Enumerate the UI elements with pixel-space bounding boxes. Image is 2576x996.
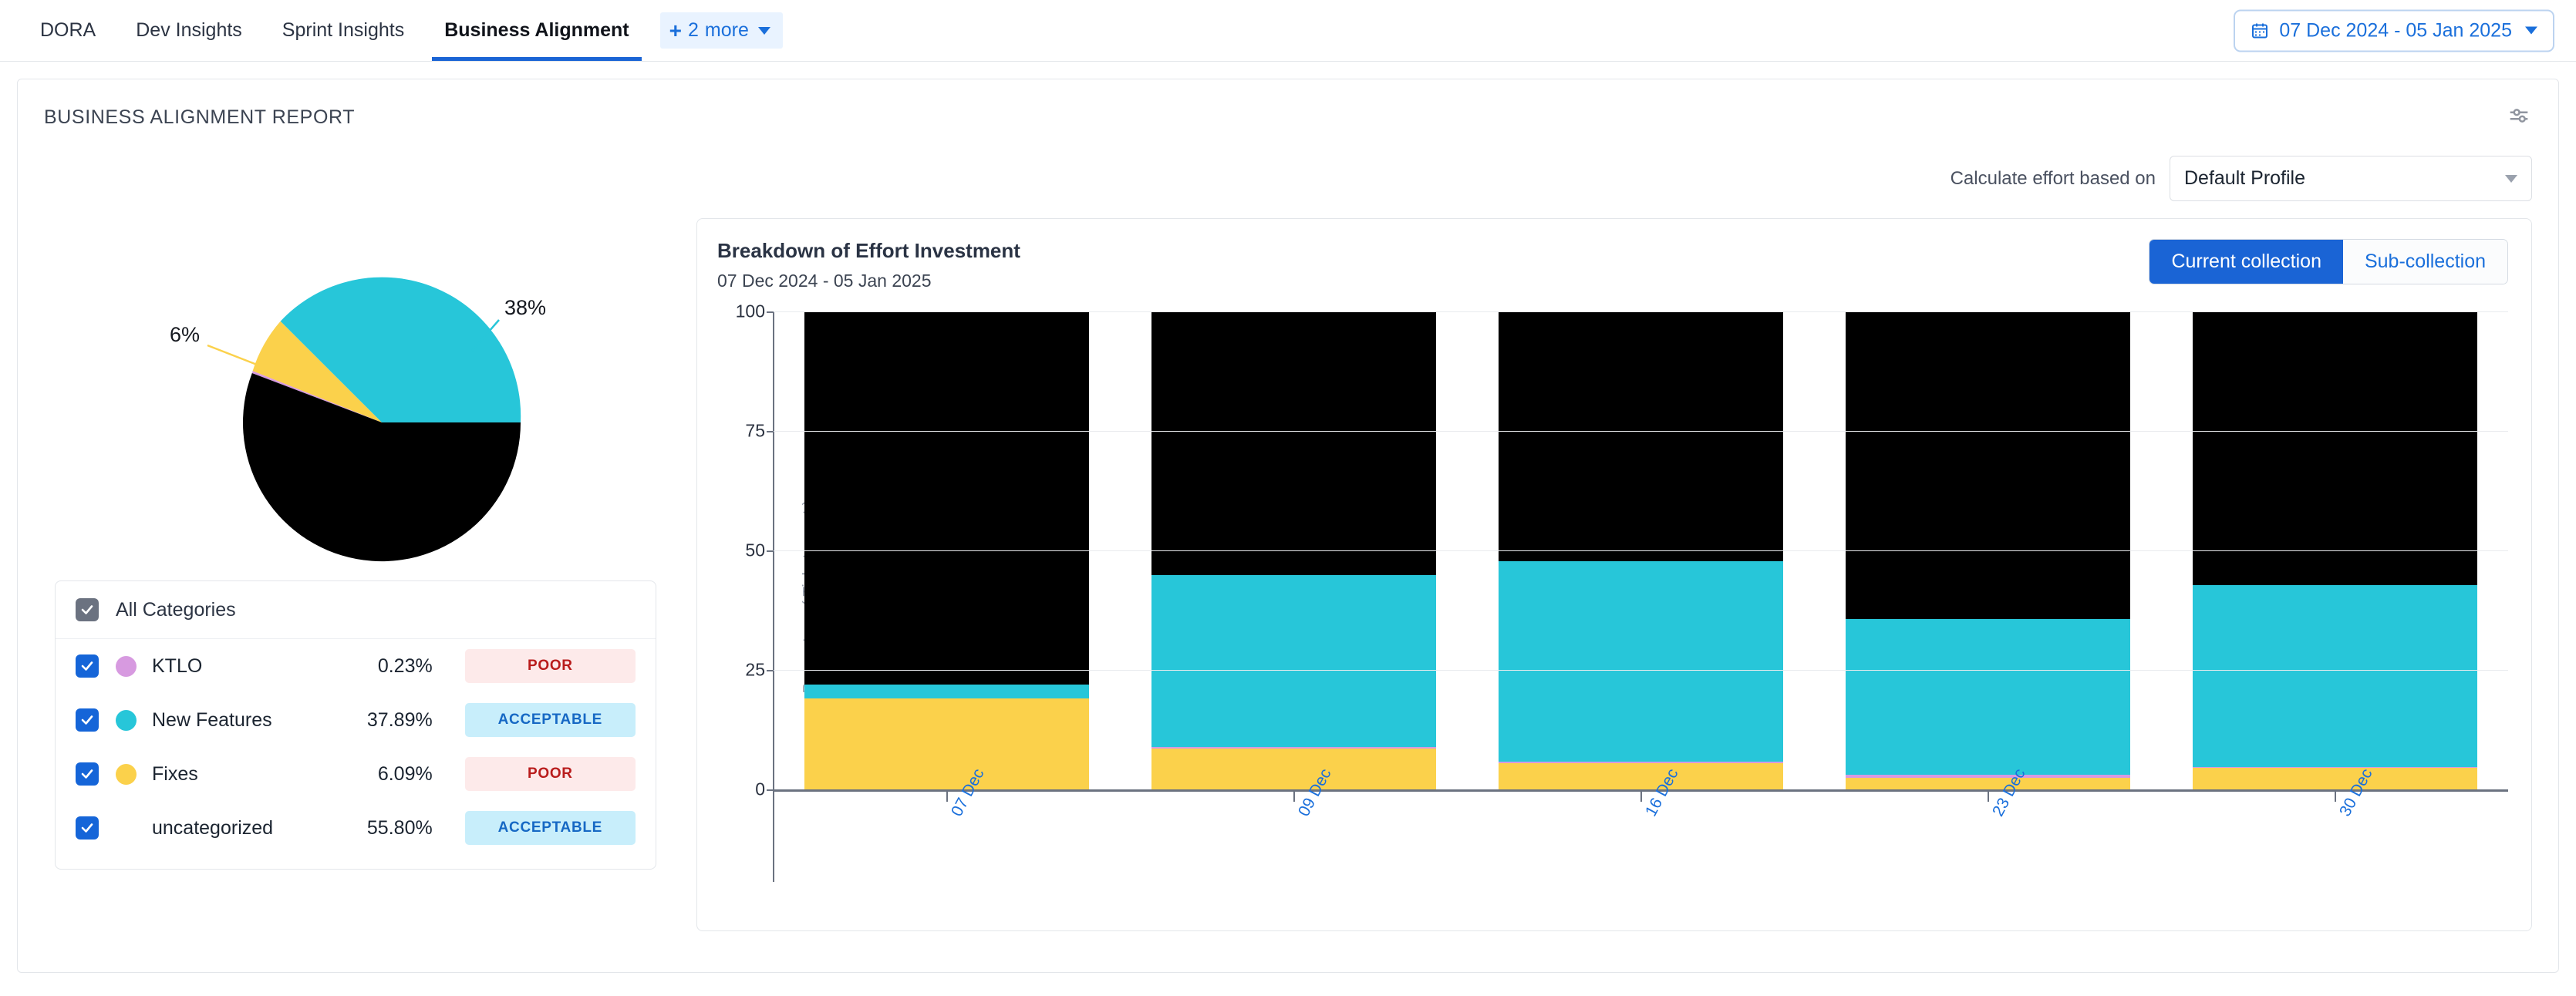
chart-title: Breakdown of Effort Investment: [717, 239, 1020, 263]
y-axis-tick-label: 75: [719, 421, 773, 442]
y-axis-tick-label: 0: [719, 779, 773, 800]
toggle-sub-collection[interactable]: Sub-collection: [2343, 240, 2507, 284]
pie-label-uncategorized: 56%: [305, 580, 346, 580]
list-item[interactable]: New Features 37.89% ACCEPTABLE: [56, 693, 656, 747]
status-badge: ACCEPTABLE: [465, 703, 636, 737]
date-range-text: 07 Dec 2024 - 05 Jan 2025: [2279, 19, 2512, 42]
bar-segment-new-features[interactable]: [1499, 561, 1783, 762]
chart-subtitle: 07 Dec 2024 - 05 Jan 2025: [717, 271, 1020, 291]
list-item[interactable]: KTLO 0.23% POOR: [56, 639, 656, 693]
effort-profile-label: Calculate effort based on: [1951, 168, 2156, 190]
bar-segment-new-features[interactable]: [2193, 585, 2477, 767]
y-axis-tick-mark: [767, 311, 774, 313]
tab-dev-insights[interactable]: Dev Insights: [116, 0, 262, 61]
chart-plot-area: Percentage ( Ticket count ) 0255075100 0…: [717, 311, 2508, 882]
more-label: more: [705, 19, 749, 42]
toggle-current-collection[interactable]: Current collection: [2149, 240, 2343, 284]
x-axis-tick-mark: [2335, 792, 2336, 802]
all-categories-label: All Categories: [116, 599, 236, 621]
bar-segment-uncategorized[interactable]: [804, 311, 1089, 685]
x-axis-tick-mark: [1293, 792, 1295, 802]
category-checkbox-new-features[interactable]: [76, 708, 99, 732]
category-checkbox-uncategorized[interactable]: [76, 816, 99, 840]
x-axis-tick-mark: [1640, 792, 1642, 802]
pie-label-fixes: 6%: [170, 323, 200, 346]
tab-dora[interactable]: DORA: [20, 0, 116, 61]
effort-pie-chart: 38% 6% 56%: [29, 218, 676, 580]
left-column: 38% 6% 56% All Categories K: [29, 218, 676, 931]
effort-profile-select[interactable]: Default Profile: [2170, 156, 2532, 201]
list-item[interactable]: Fixes 6.09% POOR: [56, 747, 656, 801]
y-axis-tick-label: 100: [719, 301, 773, 322]
status-badge: ACCEPTABLE: [465, 811, 636, 845]
list-item[interactable]: uncategorized 55.80% ACCEPTABLE: [56, 801, 656, 855]
category-value: 37.89%: [321, 709, 432, 732]
y-axis-tick-mark: [767, 789, 774, 791]
bar-segment-uncategorized[interactable]: [1846, 311, 2130, 619]
all-categories-checkbox[interactable]: [76, 598, 99, 621]
category-name: New Features: [152, 709, 321, 732]
chevron-down-icon: [2525, 27, 2537, 35]
category-color-dot-fixes: [116, 764, 137, 785]
tab-label: Sprint Insights: [282, 19, 404, 42]
gridline: [773, 550, 2508, 551]
page-title: BUSINESS ALIGNMENT REPORT: [44, 106, 355, 129]
bar-segment-fixes[interactable]: [1846, 778, 2130, 790]
chevron-down-icon: [2505, 175, 2517, 183]
right-column: Breakdown of Effort Investment 07 Dec 20…: [696, 218, 2532, 931]
calendar-icon: [2251, 22, 2269, 40]
tab-business-alignment[interactable]: Business Alignment: [424, 0, 649, 61]
effort-profile-row: Calculate effort based on Default Profil…: [18, 133, 2558, 201]
y-axis-tick-mark: [767, 550, 774, 552]
bar-segment-uncategorized[interactable]: [1151, 311, 1436, 575]
business-alignment-report-card: BUSINESS ALIGNMENT REPORT Calculate effo…: [17, 79, 2559, 973]
chevron-down-icon: [758, 27, 770, 35]
category-value: 6.09%: [321, 763, 432, 786]
status-badge: POOR: [465, 757, 636, 791]
bar-segment-fixes[interactable]: [1499, 763, 1783, 789]
category-color-dot-ktlo: [116, 656, 137, 677]
gridline: [773, 670, 2508, 671]
y-axis-tick-mark: [767, 431, 774, 432]
more-tabs-button[interactable]: + 2 more: [660, 12, 783, 49]
gridline: [773, 311, 2508, 312]
bar-segment-uncategorized[interactable]: [2193, 311, 2477, 585]
category-name: uncategorized: [152, 817, 321, 840]
category-value: 55.80%: [321, 817, 432, 840]
category-name: KTLO: [152, 655, 321, 678]
tab-sprint-insights[interactable]: Sprint Insights: [262, 0, 424, 61]
y-axis-tick-label: 25: [719, 660, 773, 681]
x-axis-tick-mark: [1988, 792, 1989, 802]
category-color-dot-uncategorized: [116, 818, 137, 839]
bar-segment-uncategorized[interactable]: [1499, 311, 1783, 561]
report-header: BUSINESS ALIGNMENT REPORT: [18, 79, 2558, 133]
bar-segment-fixes[interactable]: [1151, 749, 1436, 789]
bar-segment-new-features[interactable]: [1151, 575, 1436, 747]
x-axis-tick-mark: [946, 792, 948, 802]
plus-icon: +: [669, 20, 682, 42]
tab-list: DORA Dev Insights Sprint Insights Busine…: [0, 0, 783, 61]
sliders-icon[interactable]: [2506, 103, 2532, 133]
category-legend: All Categories KTLO 0.23% POOR: [55, 580, 656, 870]
more-count: 2: [688, 19, 699, 42]
tab-label: Dev Insights: [136, 19, 242, 42]
bar-segment-fixes[interactable]: [2193, 768, 2477, 789]
category-checkbox-fixes[interactable]: [76, 762, 99, 786]
report-body: 38% 6% 56% All Categories K: [18, 201, 2558, 931]
category-value: 0.23%: [321, 655, 432, 678]
bar-segment-fixes[interactable]: [804, 698, 1089, 789]
collection-toggle: Current collection Sub-collection: [2149, 239, 2508, 284]
y-axis-tick-mark: [767, 670, 774, 671]
tab-label: DORA: [40, 19, 96, 42]
chart-title-block: Breakdown of Effort Investment 07 Dec 20…: [717, 239, 1020, 291]
bar-segment-new-features[interactable]: [1846, 619, 2130, 775]
pie-label-new-features: 38%: [504, 296, 546, 319]
top-tab-bar: DORA Dev Insights Sprint Insights Busine…: [0, 0, 2576, 62]
effort-breakdown-chart-card: Breakdown of Effort Investment 07 Dec 20…: [696, 218, 2532, 931]
y-axis-tick-label: 50: [719, 540, 773, 561]
bar-segment-new-features[interactable]: [804, 685, 1089, 699]
legend-all-categories-row[interactable]: All Categories: [56, 581, 656, 639]
gridline: [773, 431, 2508, 432]
category-name: Fixes: [152, 763, 321, 786]
chart-header: Breakdown of Effort Investment 07 Dec 20…: [717, 239, 2508, 291]
date-range-picker[interactable]: 07 Dec 2024 - 05 Jan 2025: [2234, 9, 2554, 52]
category-color-dot-new-features: [116, 710, 137, 731]
pie-leader-line-fixes: [207, 345, 257, 365]
status-badge: POOR: [465, 649, 636, 683]
tab-label: Business Alignment: [444, 19, 629, 42]
effort-profile-value: Default Profile: [2184, 167, 2305, 190]
category-checkbox-ktlo[interactable]: [76, 654, 99, 678]
